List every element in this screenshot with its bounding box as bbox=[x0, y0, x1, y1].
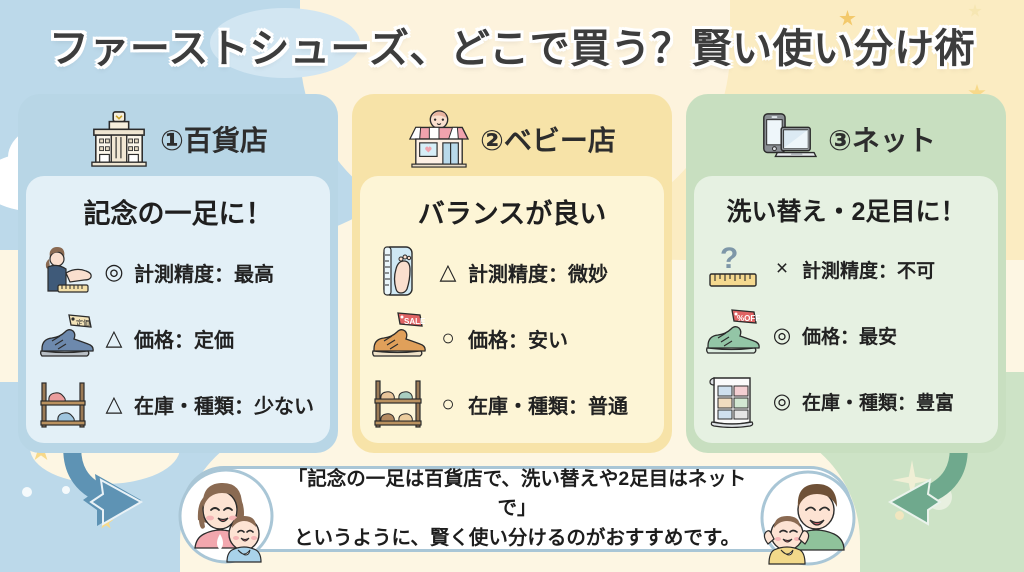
card-heading: ①百貨店 bbox=[160, 119, 268, 159]
rating-mark: △ bbox=[102, 391, 126, 417]
father-and-baby-illustration bbox=[760, 470, 856, 566]
feature-label: 価格：定価 bbox=[134, 324, 234, 353]
rating-mark: ○ bbox=[436, 391, 460, 417]
card-baby-store[interactable]: ②ベビー店 バランスが良い bbox=[352, 94, 672, 453]
rating-mark: × bbox=[770, 257, 794, 281]
shoe-discount-icon: %OFF bbox=[704, 308, 762, 362]
comparison-cards: ①百貨店 記念の一足に！ bbox=[18, 94, 1008, 453]
card-subheading: バランスが良い bbox=[370, 186, 654, 241]
feature-label: 在庫・種類：普通 bbox=[468, 390, 628, 419]
shoe-sale-tag-icon: SALE bbox=[370, 311, 428, 365]
shoe-rack-icon bbox=[36, 377, 94, 431]
catalog-list-icon bbox=[704, 374, 762, 428]
baby-shop-icon bbox=[408, 110, 470, 168]
rating-mark: ○ bbox=[436, 325, 460, 351]
feature-row: △ 計測精度：微妙 bbox=[370, 241, 654, 303]
rating-mark: △ bbox=[102, 325, 126, 351]
mother-and-baby-illustration bbox=[178, 468, 274, 564]
infographic-canvas: ファーストシューズ、どこで買う？賢い使い分け術 bbox=[0, 0, 1024, 572]
card-header: ①百貨店 bbox=[26, 102, 330, 176]
feature-label: 計測精度：最高 bbox=[134, 258, 274, 287]
card-department-store[interactable]: ①百貨店 記念の一足に！ bbox=[18, 94, 338, 453]
feature-list: ◎ 計測精度：最高 定価 bbox=[36, 241, 320, 435]
department-store-icon bbox=[88, 110, 150, 168]
card-subheading: 洗い替え・2足目に！ bbox=[704, 186, 988, 238]
svg-text:%OFF: %OFF bbox=[737, 314, 760, 323]
card-body: 洗い替え・2足目に！ ? × bbox=[694, 176, 998, 443]
card-body: 記念の一足に！ bbox=[26, 176, 330, 443]
card-body: バランスが良い bbox=[360, 176, 664, 443]
rating-mark: ◎ bbox=[102, 259, 126, 285]
svg-text:?: ? bbox=[720, 242, 738, 275]
feature-list: △ 計測精度：微妙 SALE bbox=[370, 241, 654, 435]
card-heading: ③ネット bbox=[828, 119, 936, 159]
feature-label: 価格：安い bbox=[468, 324, 568, 353]
feature-label: 在庫・種類：豊富 bbox=[802, 388, 954, 415]
feature-row: ? × 計測精度：不可 bbox=[704, 238, 988, 300]
feature-row: △ 在庫・種類：少ない bbox=[36, 373, 320, 435]
feature-label: 在庫・種類：少ない bbox=[134, 390, 314, 419]
feature-row: SALE ○ 価格：安い bbox=[370, 307, 654, 369]
feature-row: 定価 △ 価格：定価 bbox=[36, 307, 320, 369]
feature-row: %OFF ◎ 価格：最安 bbox=[704, 304, 988, 366]
shoe-rack-full-icon bbox=[370, 377, 428, 431]
svg-text:SALE: SALE bbox=[404, 317, 426, 326]
summary-box: 「記念の一足は百貨店で、洗い替えや2足目はネットで」 というように、賢く使い分け… bbox=[182, 466, 852, 552]
summary-text: 「記念の一足は百貨店で、洗い替えや2足目はネットで」 というように、賢く使い分け… bbox=[185, 465, 849, 553]
feature-label: 計測精度：不可 bbox=[802, 256, 935, 283]
card-online[interactable]: ③ネット 洗い替え・2足目に！ ? bbox=[686, 94, 1006, 453]
card-heading: ②ベビー店 bbox=[480, 119, 616, 159]
foot-gauge-icon bbox=[370, 245, 428, 299]
foot-measuring-staff-icon bbox=[36, 245, 94, 299]
dot-decoration bbox=[22, 487, 32, 497]
card-subheading: 記念の一足に！ bbox=[36, 186, 320, 241]
feature-list: ? × 計測精度：不可 bbox=[704, 238, 988, 435]
svg-text:定価: 定価 bbox=[76, 318, 90, 327]
rating-mark: ◎ bbox=[770, 389, 794, 414]
feature-row: ◎ 計測精度：最高 bbox=[36, 241, 320, 303]
smartphone-laptop-icon bbox=[756, 110, 818, 168]
card-header: ③ネット bbox=[694, 102, 998, 176]
rating-mark: △ bbox=[436, 259, 460, 285]
feature-row: ○ 在庫・種類：普通 bbox=[370, 373, 654, 435]
feature-label: 計測精度：微妙 bbox=[468, 258, 608, 287]
feature-row: ◎ 在庫・種類：豊富 bbox=[704, 370, 988, 432]
feature-label: 価格：最安 bbox=[802, 322, 897, 349]
rating-mark: ◎ bbox=[770, 323, 794, 348]
ruler-question-icon: ? bbox=[704, 242, 762, 296]
page-title: ファーストシューズ、どこで買う？賢い使い分け術 bbox=[0, 16, 1024, 74]
shoe-price-tag-icon: 定価 bbox=[36, 311, 94, 365]
card-header: ②ベビー店 bbox=[360, 102, 664, 176]
